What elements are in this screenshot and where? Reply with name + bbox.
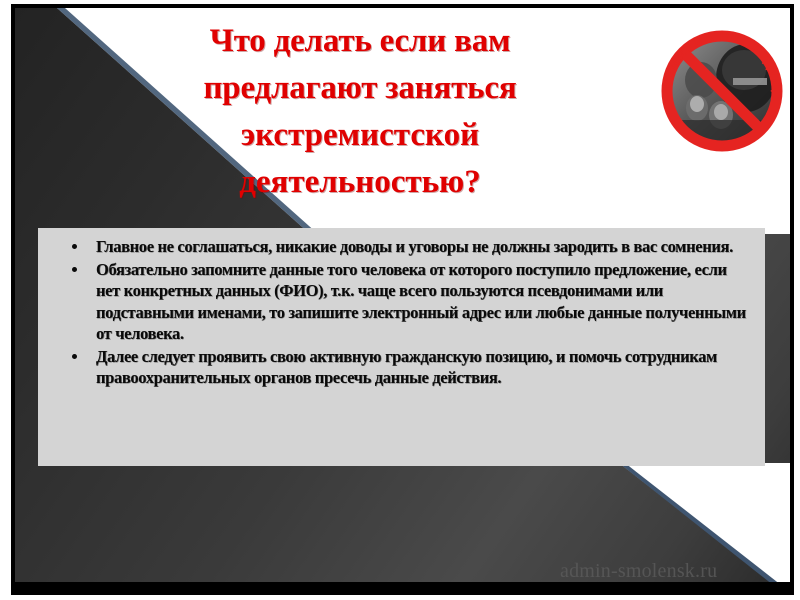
bullet-dot-icon <box>72 267 77 272</box>
bullet-text: Обязательно запомните данные того челове… <box>96 260 746 344</box>
title-line-2: предлагают заняться <box>135 65 585 112</box>
title-line-1: Что делать если вам <box>135 18 585 65</box>
list-item: Далее следует проявить свою активную гра… <box>54 346 753 389</box>
list-item: Главное не соглашаться, никакие доводы и… <box>54 236 753 258</box>
emblem-text-bottom: У <box>718 139 727 153</box>
bullet-text: Далее следует проявить свою активную гра… <box>96 347 717 388</box>
list-item: Обязательно запомните данные того челове… <box>54 259 753 345</box>
bullet-dot-icon <box>72 244 77 249</box>
title-line-3: экстремистской <box>135 112 585 159</box>
slide-canvas: Что делать если вам предлагают заняться … <box>15 8 790 585</box>
title-line-4: деятельностью? <box>135 159 585 206</box>
slide: Что делать если вам предлагают заняться … <box>0 0 800 600</box>
anti-extremism-emblem: ЭКСТРЕМИЗМА НЕТ БУДУЩЕГО! У <box>651 20 790 162</box>
bullet-dot-icon <box>72 354 77 359</box>
watermark: admin-smolensk.ru <box>560 560 717 583</box>
slide-title: Что делать если вам предлагают заняться … <box>135 18 585 206</box>
bullet-text: Главное не соглашаться, никакие доводы и… <box>96 237 733 256</box>
bullet-list: Главное не соглашаться, никакие доводы и… <box>54 236 753 389</box>
content-box: Главное не соглашаться, никакие доводы и… <box>38 228 765 466</box>
